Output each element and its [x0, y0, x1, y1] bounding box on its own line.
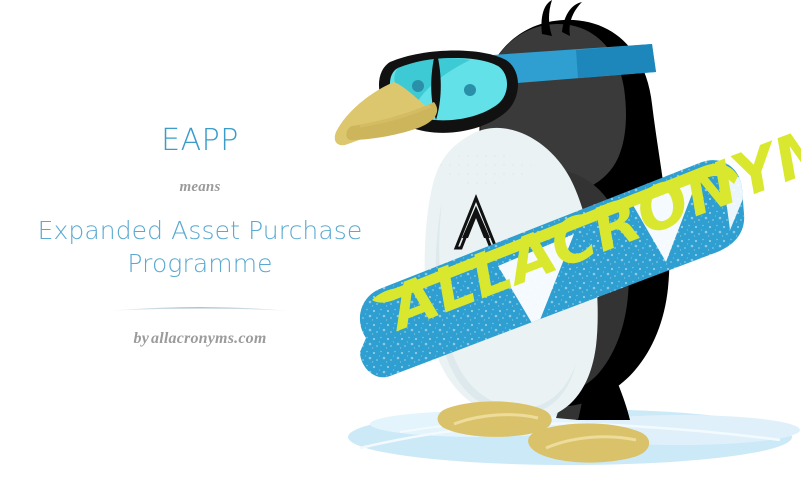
- penguin-eye-left: [412, 80, 424, 92]
- attribution-site: allacronyms.com: [151, 330, 266, 347]
- attribution: byallacronyms.com: [134, 330, 267, 348]
- snowboarding-penguin-illustration: ALLACRONYMS: [330, 0, 801, 477]
- acronym-definition-card: EAPP means Expanded Asset Purchase Progr…: [0, 0, 801, 477]
- attribution-prefix: by: [134, 330, 150, 347]
- penguin-eye-right: [464, 84, 476, 96]
- means-label: means: [179, 179, 220, 196]
- acronym-title: EAPP: [161, 126, 239, 156]
- divider: [105, 302, 295, 314]
- acronym-definition: Expanded Asset Purchase Programme: [35, 214, 365, 280]
